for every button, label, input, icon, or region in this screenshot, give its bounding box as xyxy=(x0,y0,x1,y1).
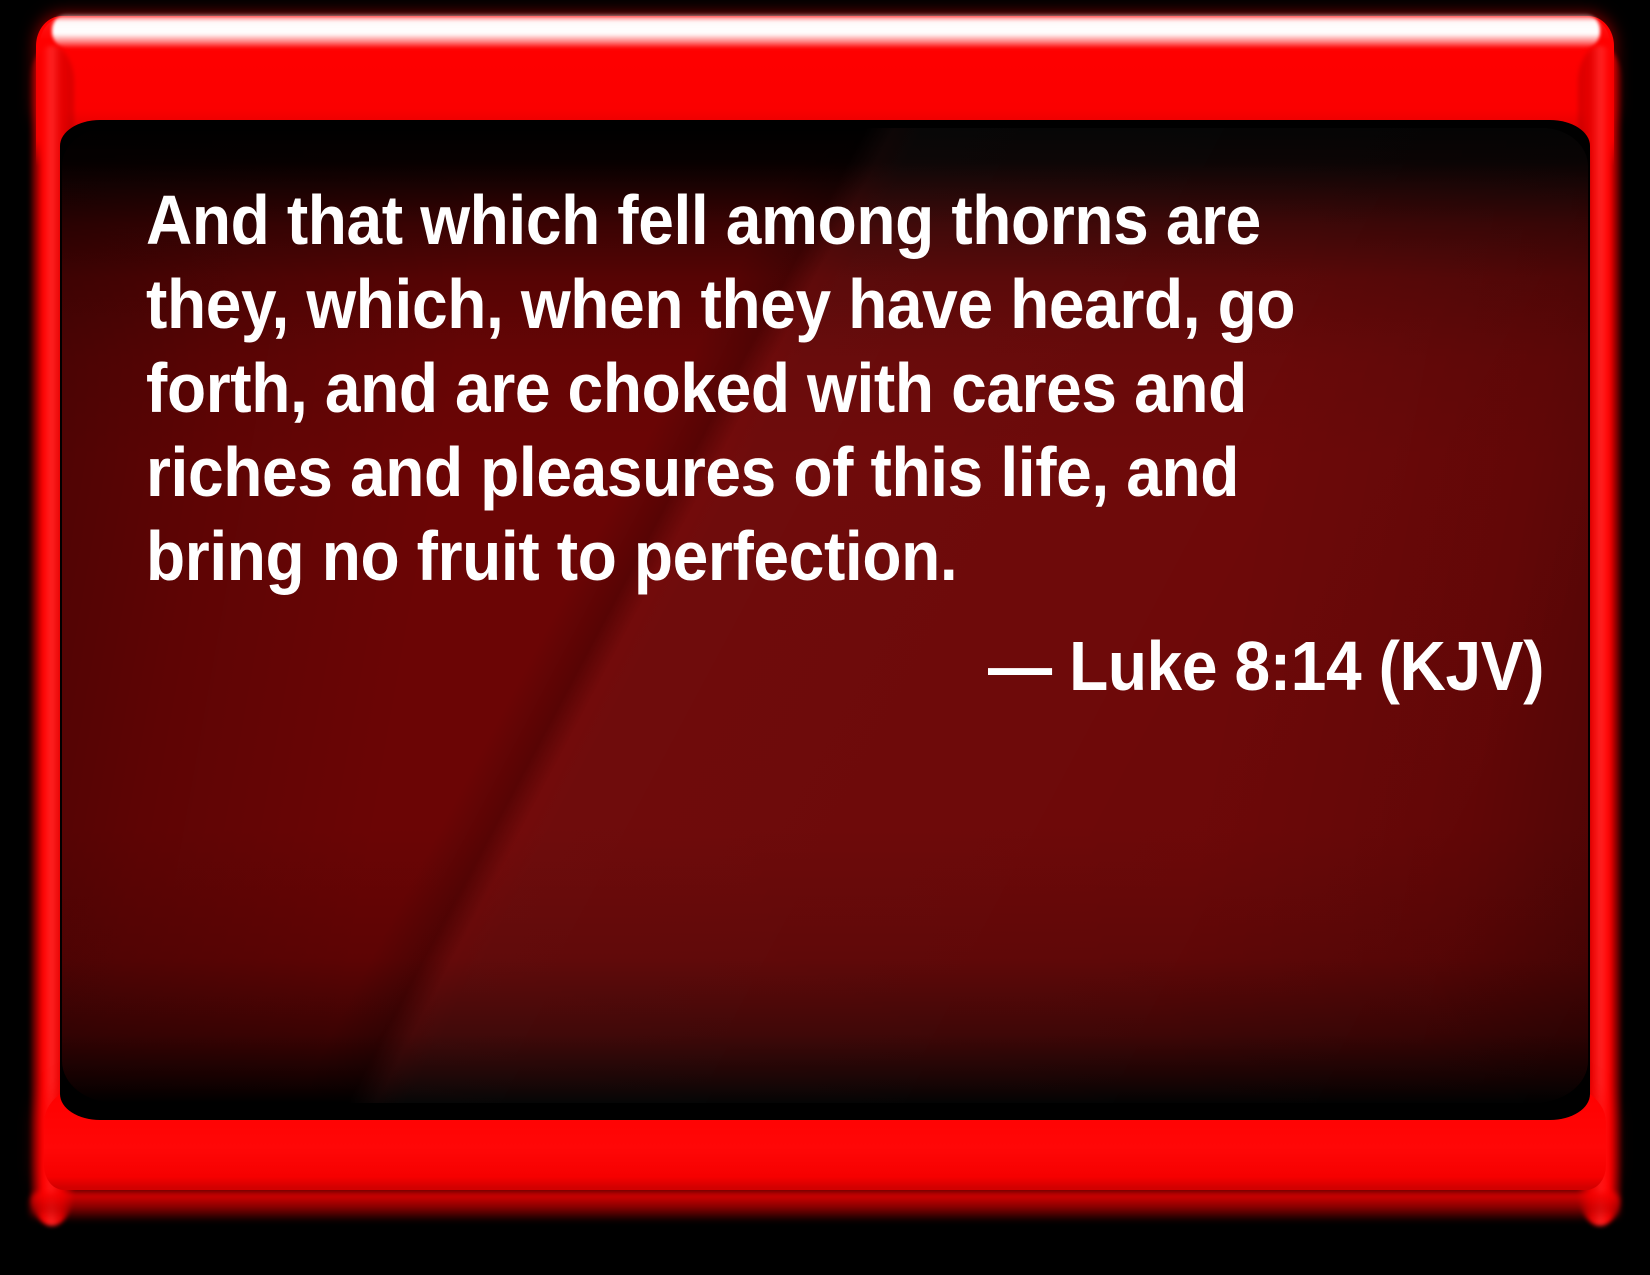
verse-body-text: And that which fell among thorns are the… xyxy=(146,178,1390,598)
verse-block: And that which fell among thorns are the… xyxy=(146,178,1506,708)
content-panel: And that which fell among thorns are the… xyxy=(62,128,1588,1103)
verse-slide: And that which fell among thorns are the… xyxy=(0,0,1650,1275)
verse-attribution: — Luke 8:14 (KJV) xyxy=(146,598,1544,708)
bezel-gloss-highlight xyxy=(52,14,1600,48)
bezel-bottom-glow xyxy=(30,1192,1620,1222)
